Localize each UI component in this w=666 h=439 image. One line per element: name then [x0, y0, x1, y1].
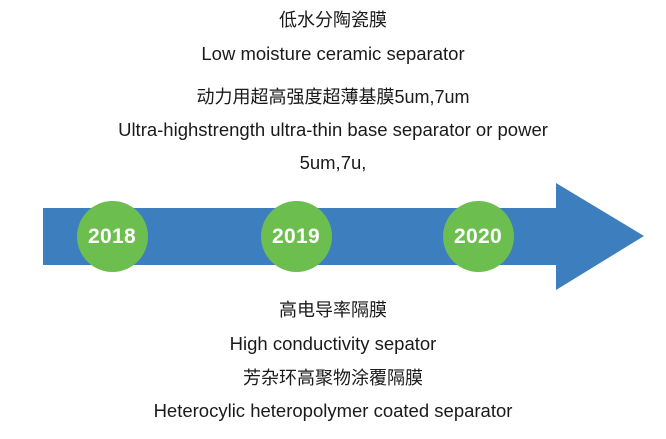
timeline-diagram-canvas: 低水分陶瓷膜 Low moisture ceramic separator 动力…: [0, 0, 666, 439]
top-text-block: 低水分陶瓷膜 Low moisture ceramic separator 动力…: [0, 8, 666, 173]
top-text-line-4: Ultra-highstrength ultra-thin base separ…: [0, 107, 666, 140]
bottom-text-line-2: High conductivity sepator: [0, 320, 666, 354]
bottom-text-line-3: 芳杂环高聚物涂覆隔膜: [0, 354, 666, 388]
milestone-label-2018: 2018: [88, 226, 136, 247]
top-text-line-1: 低水分陶瓷膜: [0, 8, 666, 30]
bottom-text-line-1: 高电导率隔膜: [0, 298, 666, 320]
milestone-label-2019: 2019: [272, 226, 320, 247]
milestone-2020[interactable]: 2020: [443, 201, 514, 272]
bottom-text-line-4: Heterocylic heteropolymer coated separat…: [0, 388, 666, 421]
top-text-line-5: 5um,7u,: [0, 140, 666, 173]
milestone-2019[interactable]: 2019: [261, 201, 332, 272]
bottom-text-block: 高电导率隔膜 High conductivity sepator 芳杂环高聚物涂…: [0, 298, 666, 421]
milestone-label-2020: 2020: [454, 226, 502, 247]
top-text-line-2: Low moisture ceramic separator: [0, 30, 666, 64]
milestone-2018[interactable]: 2018: [77, 201, 148, 272]
top-text-line-3: 动力用超高强度超薄基膜5um,7um: [0, 64, 666, 107]
